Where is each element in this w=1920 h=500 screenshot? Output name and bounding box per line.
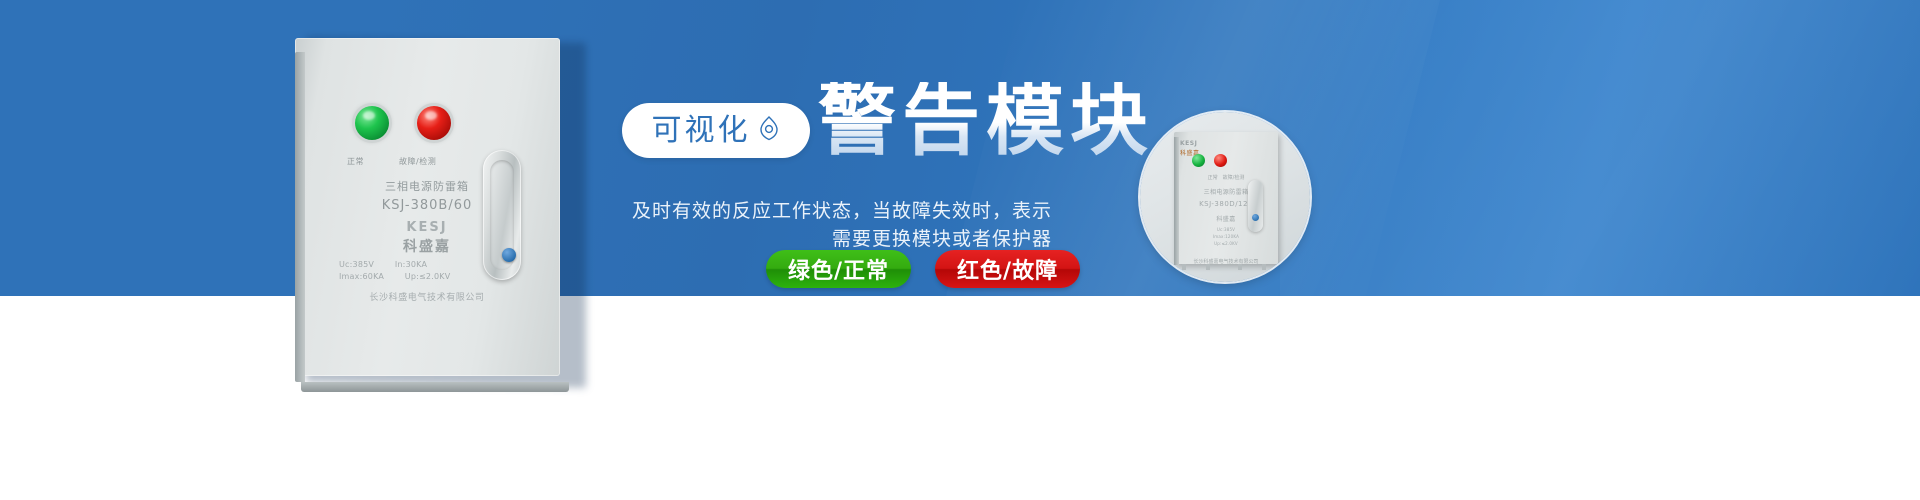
subtitle-line-1: 及时有效的反应工作状态，当故障失效时，表示: [0, 197, 1052, 226]
product-company-name: 长沙科盛电气技术有限公司: [317, 290, 537, 303]
page-title: 警告模块: [818, 82, 1154, 160]
indicator-led-red: [417, 106, 451, 140]
banner-white-background: [0, 296, 1920, 500]
inset-led-green: [1192, 154, 1205, 167]
spec-uc: Uc:385V: [339, 260, 374, 269]
inset-door-handle: [1248, 180, 1263, 232]
pill-label: 可视化: [652, 116, 751, 146]
inset-spec-uc: Uc:385V: [1174, 227, 1278, 232]
status-legend: 绿色/正常 红色/故障: [766, 250, 1080, 288]
inset-brand-en: KESJ: [1180, 140, 1197, 147]
inset-foot: [1262, 264, 1266, 270]
status-badge-normal: 绿色/正常: [766, 250, 911, 288]
status-badge-fault: 红色/故障: [935, 250, 1080, 288]
inset-led-labels: 正常 故障/检测: [1174, 174, 1278, 181]
inset-spec-imax: Imax:120KA: [1174, 234, 1278, 239]
inset-mounting-feet: [1174, 264, 1278, 270]
product-spec-row: Imax:60KA Up:≤2.0KV: [339, 272, 450, 281]
spec-up: Up:≤2.0KV: [405, 272, 451, 281]
inset-foot: [1238, 264, 1242, 270]
product-spec-row: Uc:385V In:30KA: [339, 260, 427, 269]
inset-foot: [1182, 264, 1186, 270]
led-highlight: [363, 111, 375, 120]
led-green-label: 正常: [347, 156, 364, 167]
inset-led-red: [1214, 154, 1227, 167]
inset-door-lock-icon: [1252, 214, 1259, 221]
location-pin-icon: [757, 115, 781, 146]
promo-banner: 正常 故障/检测 三相电源防雷箱 KSJ-380B/60 KESJ 科盛嘉 Uc…: [0, 0, 1920, 500]
led-highlight: [425, 111, 437, 120]
led-red-label: 故障/检测: [399, 156, 436, 167]
enclosure-bottom-edge: [301, 382, 569, 392]
product-inset-photo: KESJ 科盛嘉 正常 故障/检测 三相电源防雷箱 KSJ-380D/120 科…: [1140, 112, 1310, 282]
indicator-led-green: [355, 106, 389, 140]
visualization-pill: 可视化: [622, 103, 810, 158]
inset-enclosure: KESJ 科盛嘉 正常 故障/检测 三相电源防雷箱 KSJ-380D/120 科…: [1174, 132, 1278, 264]
inset-spec-up: Up:≤2.0KV: [1174, 241, 1278, 246]
spec-imax: Imax:60KA: [339, 272, 384, 281]
spec-in: In:30KA: [395, 260, 427, 269]
inset-foot: [1206, 264, 1210, 270]
